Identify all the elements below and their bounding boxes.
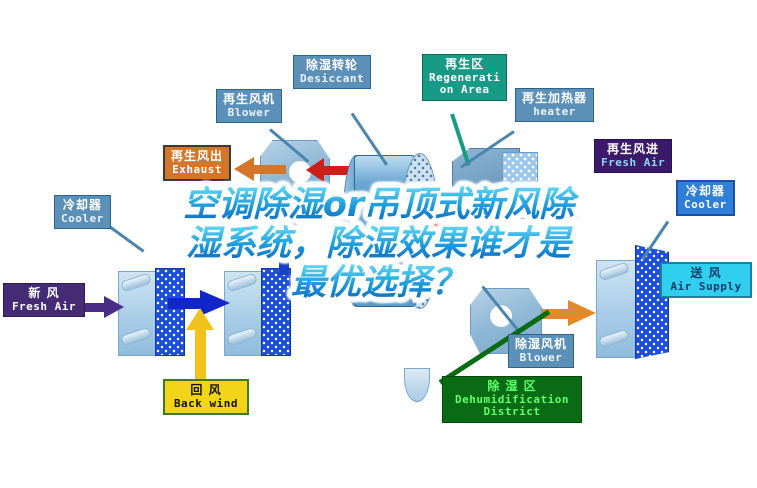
watermark: xt (316, 316, 327, 329)
label-dehum-blower-en: Blower (515, 352, 567, 364)
label-regen-area-en2: on Area (429, 84, 500, 96)
leader-cooler-left (107, 224, 144, 252)
label-regen-blower: 再生风机 Blower (216, 89, 282, 123)
label-air-supply-en: Air Supply (668, 281, 744, 293)
label-fresh-air: 新 风 Fresh Air (3, 283, 85, 317)
label-fresh-air-en: Fresh Air (10, 301, 78, 313)
label-back-wind: 回 风 Back wind (163, 379, 249, 415)
label-cooler-left: 冷却器 Cooler (54, 195, 111, 229)
label-dehumidification-district: 除 湿 区 Dehumidification District (442, 376, 582, 423)
label-dehum-blower: 除湿风机 Blower (508, 334, 574, 368)
label-regen-area-en1: Regenerati (429, 72, 500, 84)
label-regen-blower-cn: 再生风机 (223, 93, 275, 106)
label-cooler-right-en: Cooler (684, 199, 727, 211)
label-exhaust-en: Exhaust (171, 164, 223, 176)
center-filter-mesh (261, 268, 291, 356)
regen-heater-mesh (502, 152, 538, 214)
label-regen-in-en: Fresh Air (601, 157, 665, 169)
label-air-supply-cn: 送 风 (668, 267, 744, 280)
heater-element-slab (480, 207, 578, 219)
label-regen-area-cn: 再生区 (429, 58, 500, 71)
regen-hot-slab (420, 198, 474, 211)
label-regen-fresh-air-in: 再生风进 Fresh Air (594, 139, 672, 173)
label-desiccant-en: Desiccant (300, 73, 364, 85)
label-cooler-left-en: Cooler (61, 213, 104, 225)
label-dehum-cn: 除 湿 区 (449, 380, 575, 393)
condensate-drop (404, 368, 430, 402)
label-regen-heater-en: heater (522, 106, 587, 118)
label-regen-in-cn: 再生风进 (601, 143, 665, 156)
label-cooler-right: 冷却器 Cooler (676, 180, 735, 216)
exhaust-arrow (234, 157, 286, 181)
inner-up-arrow-blue (271, 205, 297, 275)
label-cooler-right-cn: 冷却器 (684, 185, 727, 198)
label-air-supply: 送 风 Air Supply (660, 262, 752, 298)
label-back-wind-en: Back wind (171, 398, 241, 410)
label-regen-heater: 再生加热器 heater (515, 88, 594, 122)
label-back-wind-cn: 回 风 (171, 384, 241, 397)
label-regeneration-area: 再生区 Regenerati on Area (422, 54, 507, 101)
back-wind-arrow (186, 308, 214, 380)
label-regen-heater-cn: 再生加热器 (522, 92, 587, 105)
fresh-air-arrow (84, 296, 124, 318)
label-cooler-left-cn: 冷却器 (61, 199, 104, 212)
label-dehum-blower-cn: 除湿风机 (515, 338, 567, 351)
label-dehum-en2: District (449, 406, 575, 418)
label-exhaust: 再生风出 Exhaust (163, 145, 231, 181)
label-dehum-en1: Dehumidification (449, 394, 575, 406)
label-desiccant: 除湿转轮 Desiccant (293, 55, 371, 89)
label-fresh-air-cn: 新 风 (10, 287, 78, 300)
label-desiccant-cn: 除湿转轮 (300, 59, 364, 72)
label-regen-blower-en: Blower (223, 107, 275, 119)
diagram-canvas: 除湿转轮 Desiccant 再生风机 Blower 再生区 Regenerat… (0, 0, 757, 488)
label-exhaust-cn: 再生风出 (171, 150, 223, 163)
